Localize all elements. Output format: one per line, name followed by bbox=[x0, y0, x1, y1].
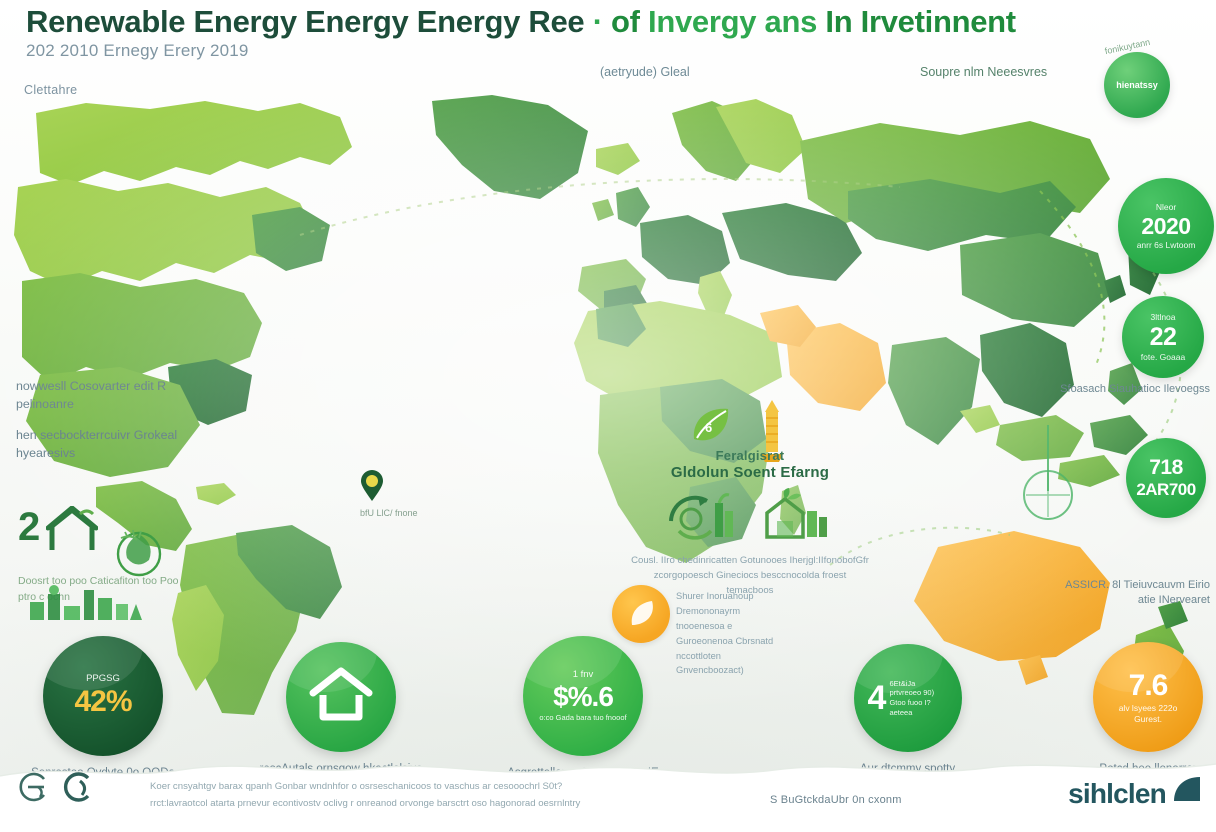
center-panel-title-1: Feralgisrat bbox=[630, 448, 870, 463]
skyline-icon bbox=[24, 584, 144, 625]
rail-chip-2020-value: 2020 bbox=[1141, 213, 1190, 240]
rail-chip-leaf-sub: hienatssy bbox=[1116, 80, 1158, 90]
rail-chip-22-sub: fote. Goaaa bbox=[1141, 352, 1185, 363]
page-title: Renewable Energy Energy Energy Ree · of … bbox=[26, 4, 1196, 40]
stat-badge-pre: 1 fnv bbox=[573, 669, 594, 681]
footer: Koer cnsyahtgv barax qpanh Gonbar wndnhf… bbox=[0, 750, 1216, 832]
stat-badge-sub: alv lsyees 222o Gurest. bbox=[1105, 703, 1191, 725]
leaf-brand-icon bbox=[1172, 775, 1202, 812]
rail-chip-22-label: 3ltlnoa bbox=[1150, 312, 1175, 323]
circular-e-logo bbox=[14, 769, 50, 810]
center-panel-title-2: Gldolun Soent Efarng bbox=[630, 464, 870, 481]
stat-badge-pre: PPGSG bbox=[86, 673, 120, 685]
page-subtitle: 202 2010 Ernegy Erery 2019 bbox=[26, 41, 1196, 61]
stat-badge-sub: o:co Gada bara tuo fnooof bbox=[539, 713, 626, 723]
footer-body-line-1: Koer cnsyahtgv barax qpanh Gonbar wndnhf… bbox=[150, 779, 790, 795]
rail-chip-2020-label: Nleor bbox=[1156, 202, 1176, 213]
footer-body-line-2: rrct:lavraotcol atarta prnevur econtivos… bbox=[150, 796, 790, 812]
rail-chip-22[interactable]: 3ltlnoa 22 fote. Goaaa bbox=[1122, 296, 1204, 378]
stat-badge-value: 7.6 bbox=[1129, 669, 1168, 703]
rail-chip-22-value: 22 bbox=[1150, 323, 1177, 352]
rail-chip-2020-sub: anrr 6s Lwtoom bbox=[1137, 240, 1196, 251]
header: Renewable Energy Energy Energy Ree · of … bbox=[26, 4, 1196, 61]
rail-caption-2: ASSICR. 8l Tieiuvcauvm Eirio atie INerve… bbox=[1060, 578, 1210, 609]
rail-caption-1: Sfoasach Siauhatioc Ilevoegss bbox=[1060, 382, 1210, 397]
stat-badge-value: 4 bbox=[868, 679, 886, 718]
stat-badge-value: 42% bbox=[74, 685, 131, 719]
stat-badge-circle[interactable]: PPGSG 42% bbox=[43, 636, 163, 756]
stat-badge-sub: 6Et&iJa prtvreoeo 90) Gtoo fuoo I?aeteea bbox=[889, 679, 947, 718]
stat-badge-circle[interactable]: 4 6Et&iJa prtvreoeo 90) Gtoo fuoo I?aete… bbox=[854, 644, 962, 752]
stat-badge-circle[interactable]: 7.6 alv lsyees 222o Gurest. bbox=[1093, 642, 1203, 752]
map-pin-label: bfU LlC/ fnone bbox=[360, 508, 418, 518]
rail-chip-718[interactable]: 718 2AR700 bbox=[1126, 438, 1206, 518]
left-narrative: nowwesll Cosovarter edit R pelinoanre he… bbox=[16, 378, 191, 462]
recycle-globe-icon bbox=[667, 487, 739, 548]
stat-badge-circle[interactable]: 1 fnv $%.6 o:co Gada bara tuo fnooof bbox=[523, 636, 643, 756]
eco-factory-icon bbox=[761, 487, 833, 548]
footer-middle-note: S BuGtckdaUbr 0n cxonm bbox=[770, 794, 902, 806]
rail-chip-718-sub: 2AR700 bbox=[1136, 480, 1195, 500]
house-icon bbox=[46, 506, 98, 557]
rail-chip-leaf[interactable]: hienatssy bbox=[1104, 52, 1170, 118]
title-segment-3: Invergy ans bbox=[648, 4, 817, 39]
stat-badge-circle[interactable] bbox=[286, 642, 396, 752]
left-narrative-line-2: hen secbockterrcuivr Grokeal hyearesivs bbox=[16, 427, 191, 462]
home-icon bbox=[309, 665, 373, 730]
footer-brand: sihlclen bbox=[1068, 775, 1202, 812]
stat-badge-value: $%.6 bbox=[553, 681, 613, 713]
footer-brand-name: sihlclen bbox=[1068, 778, 1166, 810]
globe-leaf-icon bbox=[109, 524, 167, 585]
center-info-panel: Feralgisrat Gldolun Soent Efarng bbox=[630, 448, 870, 599]
left-narrative-line-1: nowwesll Cosovarter edit R pelinoanre bbox=[16, 378, 191, 413]
leaf-badge-icon: 6 bbox=[690, 405, 732, 452]
title-segment-4: In Irvetinnent bbox=[825, 4, 1015, 39]
rail-chip-2020[interactable]: Nleor 2020 anrr 6s Lwtoom bbox=[1118, 178, 1214, 274]
title-segment-1: Renewable Energy Energy Energy Ree bbox=[26, 4, 584, 39]
title-segment-2: of bbox=[611, 4, 640, 39]
map-label-center: (aetryude) Gleal bbox=[600, 65, 690, 79]
left-kpi-value: 2 bbox=[18, 508, 39, 546]
map-label-right: Soupre nlm Neeesvres bbox=[920, 65, 1047, 79]
rail-chip-718-value: 718 bbox=[1149, 456, 1183, 480]
header-kicker: Clettahre bbox=[24, 83, 77, 97]
footer-body: Koer cnsyahtgv barax qpanh Gonbar wndnhf… bbox=[150, 779, 790, 812]
circular-c-logo bbox=[60, 769, 96, 810]
svg-text:6: 6 bbox=[705, 420, 712, 435]
map-pin-marker[interactable]: bfU LlC/ fnone bbox=[360, 470, 418, 518]
infographic-canvas: Renewable Energy Energy Energy Ree · of … bbox=[0, 0, 1216, 832]
